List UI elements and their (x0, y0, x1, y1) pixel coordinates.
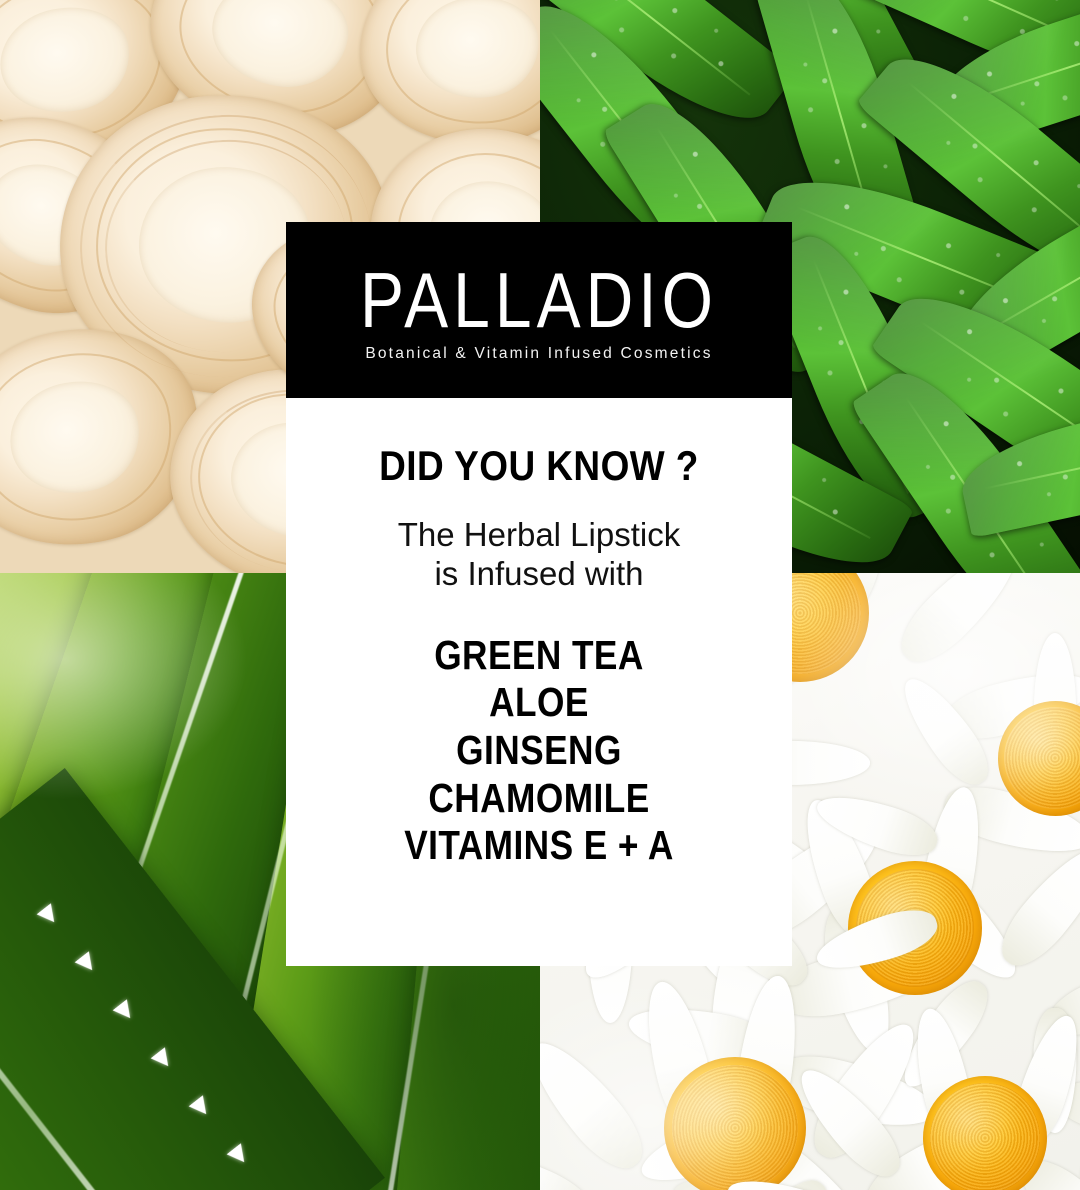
subtitle: The Herbal Lipstick is Infused with (310, 516, 768, 594)
subtitle-line-1: The Herbal Lipstick (310, 516, 768, 555)
brand-logo-text: PALLADIO (360, 261, 718, 339)
ingredient-item: GINSENG (342, 727, 736, 775)
ingredient-list: GREEN TEA ALOE GINSENG CHAMOMILE VITAMIN… (310, 632, 768, 870)
product-ingredient-poster: PALLADIO Botanical & Vitamin Infused Cos… (0, 0, 1080, 1190)
ingredient-item: VITAMINS E + A (342, 822, 736, 870)
brand-panel: PALLADIO Botanical & Vitamin Infused Cos… (286, 222, 792, 398)
message-panel: DID YOU KNOW ? The Herbal Lipstick is In… (286, 398, 792, 966)
subtitle-line-2: is Infused with (310, 555, 768, 594)
ingredient-item: GREEN TEA (342, 632, 736, 680)
brand-tagline: Botanical & Vitamin Infused Cosmetics (365, 345, 712, 363)
ingredient-item: ALOE (342, 679, 736, 727)
headline: DID YOU KNOW ? (337, 442, 740, 490)
daisy-flower (580, 973, 890, 1190)
daisy-flower (930, 633, 1080, 883)
info-card: PALLADIO Botanical & Vitamin Infused Cos… (286, 222, 792, 966)
ingredient-item: CHAMOMILE (342, 775, 736, 823)
daisy-flower (850, 1003, 1080, 1190)
